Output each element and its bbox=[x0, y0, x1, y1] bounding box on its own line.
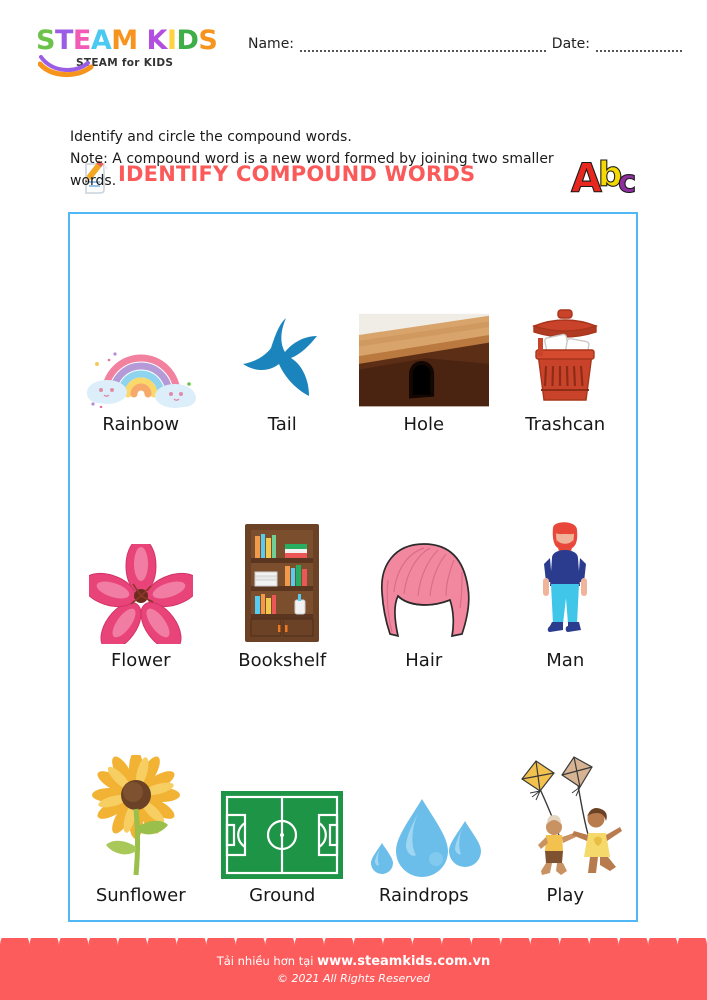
item-label: Trashcan bbox=[525, 414, 605, 435]
footer-copyright: © 2021 All Rights Reserved bbox=[0, 971, 707, 987]
logo-letter-4: M bbox=[111, 27, 137, 55]
name-label: Name: bbox=[248, 36, 294, 52]
date-label: Date: bbox=[552, 36, 590, 52]
worksheet-item[interactable]: Play bbox=[495, 685, 637, 920]
ground-icon bbox=[217, 761, 347, 879]
flower-icon bbox=[76, 526, 206, 644]
logo-letter-6: K bbox=[147, 27, 167, 55]
logo-letter-5 bbox=[138, 27, 147, 55]
raindrops-icon bbox=[359, 761, 489, 879]
worksheet-item[interactable]: Raindrops bbox=[353, 685, 495, 920]
title-row: IDENTIFY COMPOUND WORDS A b c bbox=[0, 78, 707, 124]
worksheet-item[interactable]: Sunflower bbox=[70, 685, 212, 920]
trashcan-icon bbox=[500, 290, 630, 408]
worksheet-item[interactable]: Flower bbox=[70, 449, 212, 684]
logo-wordmark: STEAM KIDS bbox=[36, 27, 231, 55]
logo-letter-2: E bbox=[73, 27, 91, 55]
item-label: Rainbow bbox=[102, 414, 179, 435]
item-label: Raindrops bbox=[379, 885, 469, 906]
footer-site-line: Tải nhiều hơn tại www.steamkids.com.vn bbox=[0, 952, 707, 971]
steam-kids-logo: STEAM KIDS STEAM for KIDS bbox=[36, 27, 231, 69]
worksheet-item[interactable]: Ground bbox=[212, 685, 354, 920]
worksheet-item[interactable]: Trashcan bbox=[495, 214, 637, 449]
rainbow-icon bbox=[76, 290, 206, 408]
worksheet-grid: Rainbow Tail Hole Trashcan bbox=[70, 214, 636, 920]
logo-letter-3: A bbox=[91, 27, 111, 55]
tail-icon bbox=[217, 290, 347, 408]
instructions: Identify and circle the compound words. … bbox=[70, 126, 590, 192]
logo-letter-9: S bbox=[198, 27, 217, 55]
bookshelf-icon bbox=[217, 526, 347, 644]
worksheet-box: Rainbow Tail Hole Trashcan bbox=[68, 212, 638, 922]
sunflower-icon bbox=[76, 761, 206, 879]
item-label: Sunflower bbox=[96, 885, 186, 906]
item-label: Man bbox=[546, 650, 584, 671]
logo-tagline: STEAM for KIDS bbox=[76, 57, 231, 69]
logo-letter-8: D bbox=[177, 27, 199, 55]
item-label: Hair bbox=[405, 650, 442, 671]
worksheet-item[interactable]: Man bbox=[495, 449, 637, 684]
item-label: Tail bbox=[268, 414, 297, 435]
logo-letter-7: I bbox=[167, 27, 177, 55]
footer-text: Tải nhiều hơn tại www.steamkids.com.vn ©… bbox=[0, 952, 707, 987]
instruction-line-1: Identify and circle the compound words. bbox=[70, 126, 590, 148]
instruction-line-2: Note: A compound word is a new word form… bbox=[70, 148, 590, 170]
item-label: Play bbox=[546, 885, 584, 906]
worksheet-item[interactable]: Hair bbox=[353, 449, 495, 684]
name-date-row: Name: Date: bbox=[248, 36, 688, 52]
name-input[interactable] bbox=[300, 39, 546, 52]
worksheet-item[interactable]: Rainbow bbox=[70, 214, 212, 449]
logo-letter-0: S bbox=[36, 27, 55, 55]
item-label: Bookshelf bbox=[238, 650, 326, 671]
item-label: Flower bbox=[111, 650, 171, 671]
logo-swoosh-icon bbox=[38, 53, 98, 79]
page-footer: Tải nhiều hơn tại www.steamkids.com.vn ©… bbox=[0, 938, 707, 1000]
worksheet-item[interactable]: Hole bbox=[353, 214, 495, 449]
logo-letter-1: T bbox=[55, 27, 73, 55]
man-icon bbox=[500, 526, 630, 644]
item-label: Hole bbox=[403, 414, 444, 435]
footer-site-url[interactable]: www.steamkids.com.vn bbox=[317, 954, 490, 969]
item-label: Ground bbox=[249, 885, 315, 906]
page-header: STEAM KIDS STEAM for KIDS Name: Date: bbox=[0, 0, 707, 78]
svg-text:c: c bbox=[618, 164, 636, 200]
hair-icon bbox=[359, 526, 489, 644]
worksheet-item[interactable]: Tail bbox=[212, 214, 354, 449]
instruction-line-3: words. bbox=[70, 170, 590, 192]
play-icon bbox=[500, 761, 630, 879]
hole-icon bbox=[359, 290, 489, 408]
footer-prefix: Tải nhiều hơn tại bbox=[217, 954, 317, 968]
worksheet-item[interactable]: Bookshelf bbox=[212, 449, 354, 684]
date-input[interactable] bbox=[596, 39, 682, 52]
